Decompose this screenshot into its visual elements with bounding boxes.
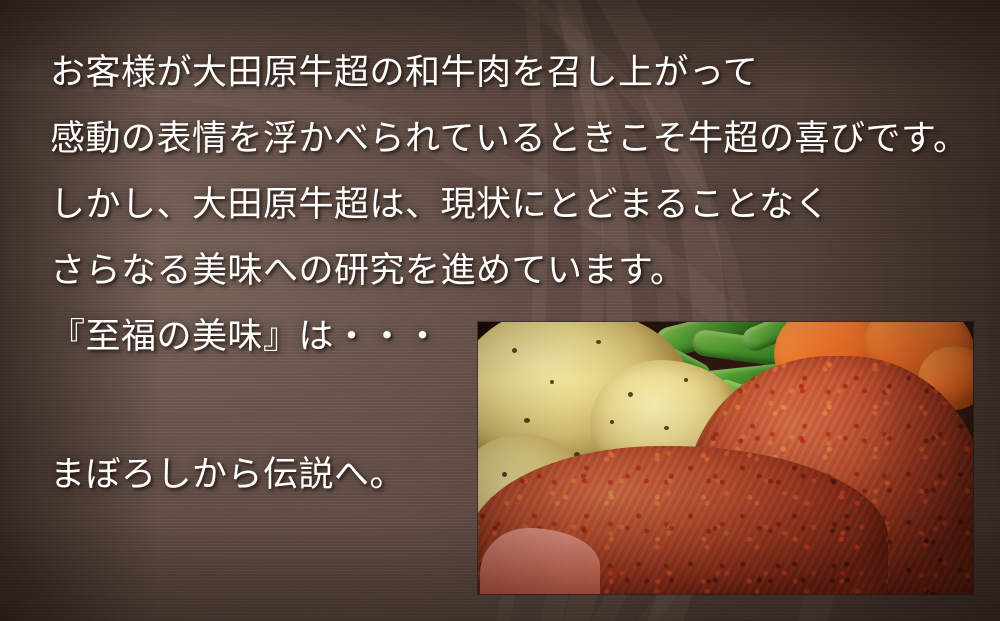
copy-line-2: 感動の表情を浮かべられているときこそ牛超の喜びです。 [50,106,980,172]
slide-canvas: お客様が大田原牛超の和牛肉を召し上がって 感動の表情を浮かべられているときこそ牛… [0,0,1000,621]
copy-line-1: お客様が大田原牛超の和牛肉を召し上がって [50,40,980,106]
photo-shading-overlay [478,322,973,594]
copy-line-4: さらなる美味への研究を進めています。 [50,238,980,304]
steak-photo [478,322,973,594]
photo-content [478,322,973,594]
copy-line-3: しかし、大田原牛超は、現状にとどまることなく [50,172,980,238]
